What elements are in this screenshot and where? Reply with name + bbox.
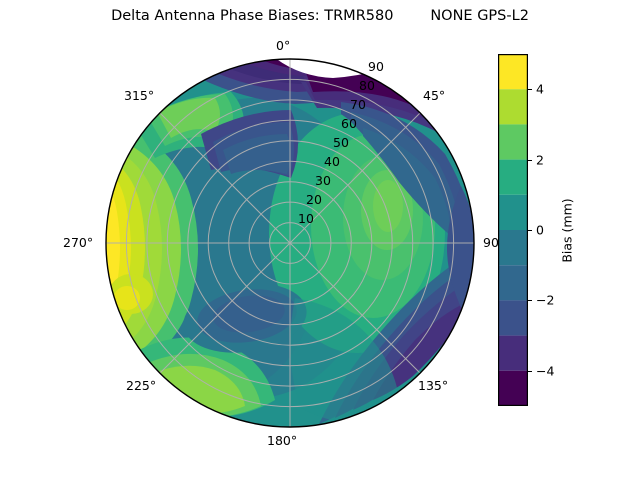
r-label-80: 80: [359, 78, 375, 93]
colorbar-tick-mark-m4: [528, 371, 532, 372]
colorbar-tick-label-2: 2: [536, 152, 544, 167]
polar-grid: [106, 59, 474, 427]
theta-label-135: 135°: [418, 378, 448, 393]
colorbar-tick-label-0: 0: [536, 223, 544, 238]
r-label-70: 70: [350, 97, 366, 112]
r-label-90: 90: [368, 59, 384, 74]
theta-label-90: 90: [483, 235, 499, 250]
colorbar-bands: [498, 54, 528, 406]
theta-label-0: 0°: [276, 38, 290, 53]
colorbar: 4 2 0 −2 −4: [498, 54, 528, 406]
colorbar-tick-mark-m2: [528, 300, 532, 301]
colorbar-tick-label-m2: −2: [536, 293, 554, 308]
chart-title: Delta Antenna Phase Biases: TRMR580 NONE…: [0, 8, 640, 24]
theta-label-315: 315°: [124, 88, 154, 103]
colorbar-tick-mark-2: [528, 160, 532, 161]
r-label-60: 60: [341, 116, 357, 131]
r-label-10: 10: [298, 211, 314, 226]
r-label-20: 20: [306, 192, 322, 207]
colorbar-tick-mark-0: [528, 230, 532, 231]
colorbar-axis-label: Bias (mm): [558, 54, 576, 406]
polar-plot-svg: [105, 58, 475, 428]
theta-label-45: 45°: [423, 88, 445, 103]
colorbar-tick-label-4: 4: [536, 82, 544, 97]
colorbar-tick-mark-4: [528, 89, 532, 90]
colorbar-gradient: [498, 54, 528, 406]
r-label-40: 40: [324, 154, 340, 169]
r-label-50: 50: [333, 135, 349, 150]
polar-axes: 0° 45° 90 135° 180° 225° 270° 315° 10 20…: [105, 58, 475, 428]
figure-canvas: Delta Antenna Phase Biases: TRMR580 NONE…: [0, 0, 640, 480]
colorbar-axis-label-text: Bias (mm): [560, 198, 575, 262]
theta-label-225: 225°: [126, 378, 156, 393]
theta-label-270: 270°: [63, 235, 93, 250]
r-label-30: 30: [315, 173, 331, 188]
theta-label-180: 180°: [267, 433, 297, 448]
colorbar-tick-label-m4: −4: [536, 363, 554, 378]
